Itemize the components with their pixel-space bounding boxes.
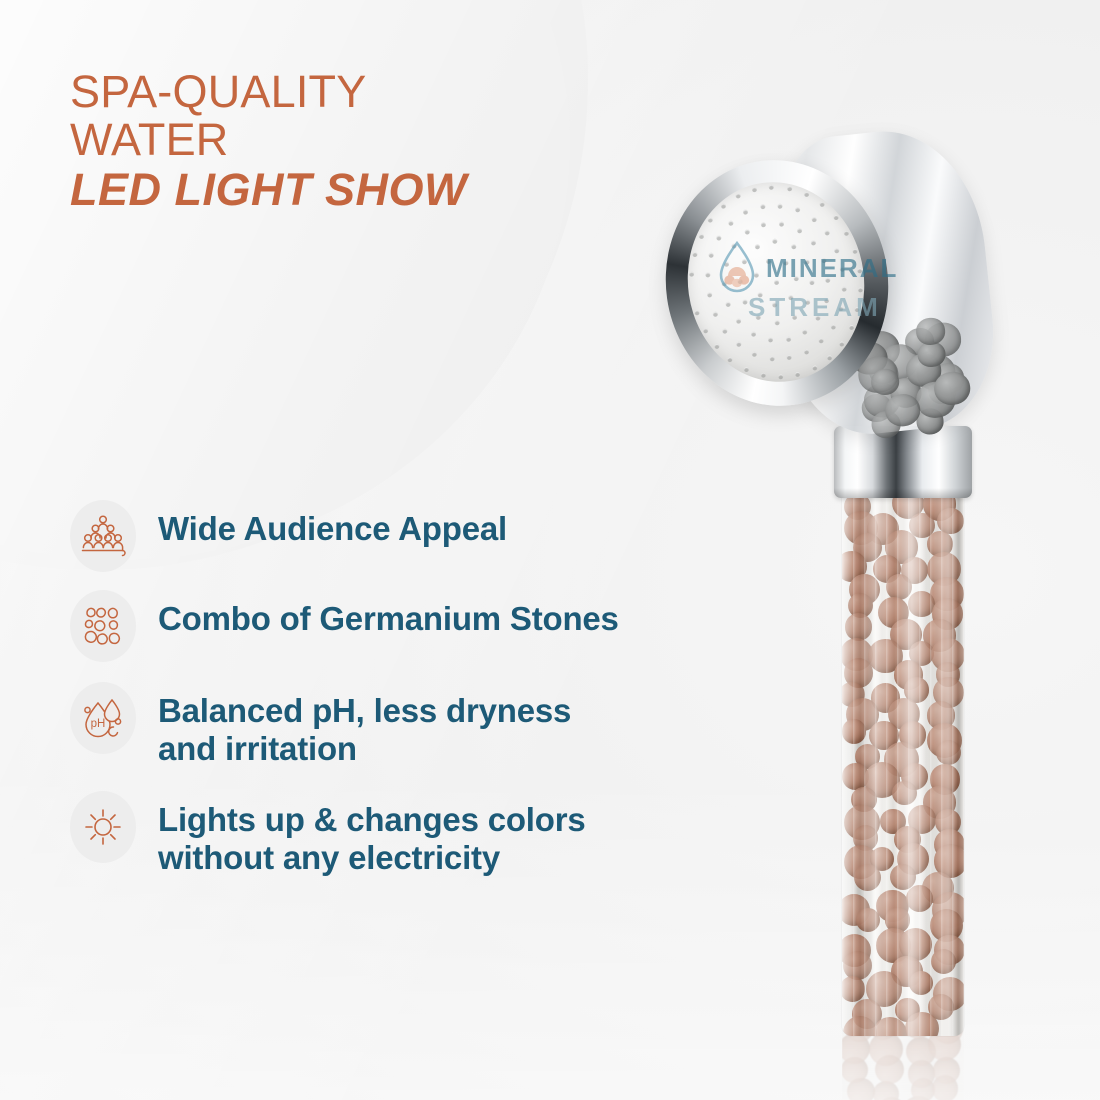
feature-label: Wide Audience Appeal (158, 500, 507, 548)
mineral-beads (842, 488, 964, 1036)
feature-label: Balanced pH, less dryness and irritation (158, 682, 571, 767)
shower-head: MINERAL STREAM (658, 120, 998, 450)
stones-cluster-icon (80, 603, 126, 649)
mineral-bead-handle (842, 488, 964, 1036)
headline-line-2: WATER (70, 116, 630, 164)
feature-icon-badge (70, 500, 136, 572)
headline-line-3: LED LIGHT SHOW (70, 166, 630, 214)
feature-item-wide-audience: Wide Audience Appeal (70, 500, 770, 572)
feature-label: Combo of Germanium Stones (158, 590, 619, 638)
headline-block: SPA-QUALITY WATER LED LIGHT SHOW (70, 68, 630, 214)
ph-droplet-icon: pH (79, 694, 127, 742)
feature-item-germanium-stones: Combo of Germanium Stones (70, 590, 770, 662)
product-feature-graphic: SPA-QUALITY WATER LED LIGHT SHOW (0, 0, 1100, 1100)
feature-item-balanced-ph: pH Balanced pH, less dryness and irritat… (70, 682, 770, 767)
feature-label: Lights up & changes colors without any e… (158, 791, 586, 876)
headline-line-1: SPA-QUALITY (70, 68, 630, 116)
feature-list: Wide Audience Appeal (70, 500, 770, 898)
sun-light-icon (81, 805, 125, 849)
feature-item-led-light: Lights up & changes colors without any e… (70, 791, 770, 876)
feature-icon-badge: pH (70, 682, 136, 754)
feature-icon-badge (70, 791, 136, 863)
crowd-icon (79, 513, 127, 559)
feature-icon-badge (70, 590, 136, 662)
svg-text:pH: pH (91, 718, 106, 730)
